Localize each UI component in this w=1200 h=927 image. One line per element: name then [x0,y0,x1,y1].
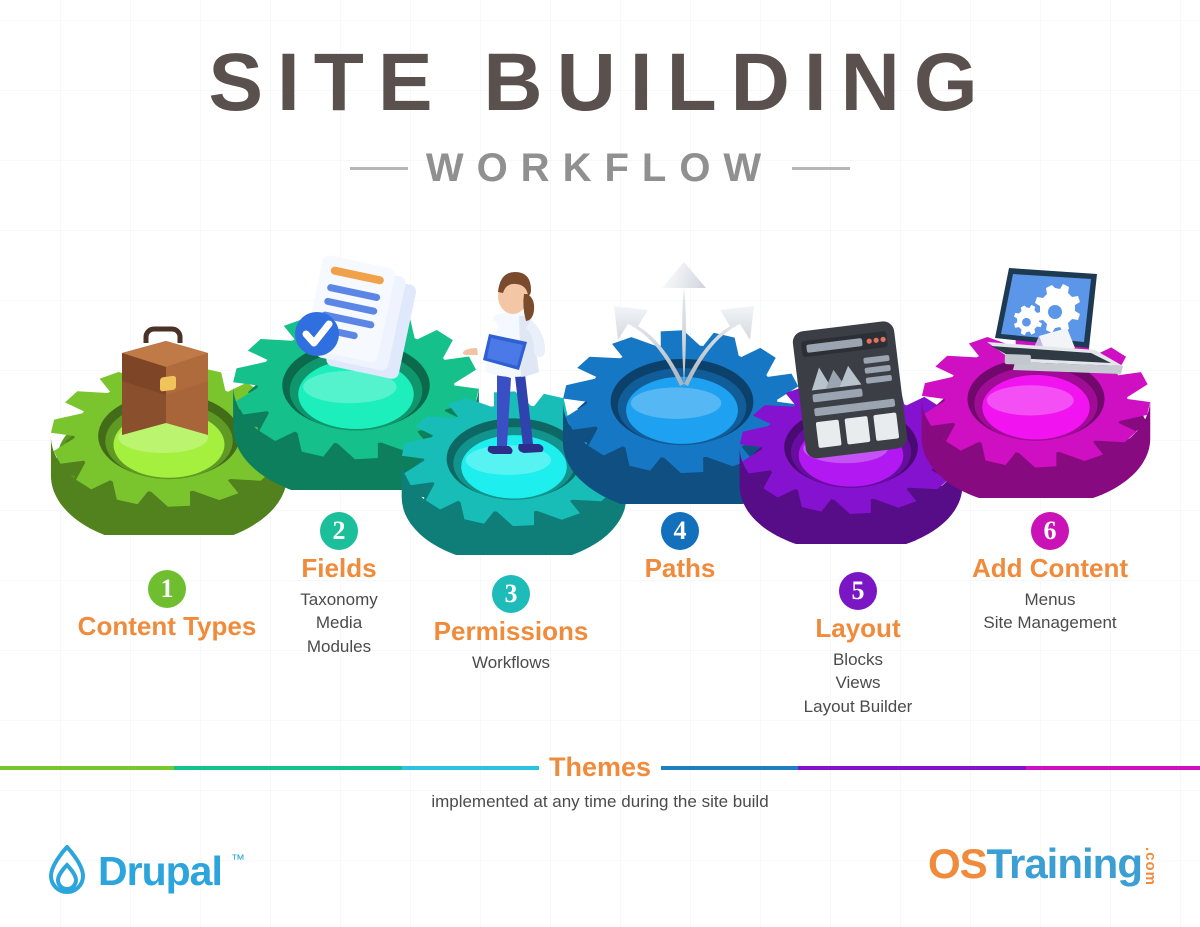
person-clipboard-icon [453,270,573,470]
ostraining-os: OS [928,843,987,885]
step-3-label: 3 Permissions Workflows [390,575,632,674]
drupal-trademark: ™ [231,851,245,867]
step-2-badge: 2 [320,512,358,550]
step-1-badge: 1 [148,570,186,608]
step-5-badge: 5 [839,572,877,610]
step-3-sub: Workflows [390,651,632,674]
themes-note: implemented at any time during the site … [0,792,1200,812]
themes-segment-2 [174,766,402,770]
ostraining-training: Training [987,843,1142,885]
ostraining-logo: OS Training .com [928,843,1158,886]
step-3-badge: 3 [492,575,530,613]
drupal-logo: Drupal ™ [45,845,245,897]
themes-segment-6 [1026,766,1200,770]
gear-step-6 [917,318,1155,498]
step-6-label: 6 Add Content MenusSite Management [925,512,1175,635]
themes-label: Themes [539,752,661,783]
step-5-sub: BlocksViewsLayout Builder [738,648,978,718]
step-6-title: Add Content [925,554,1175,584]
step-6-badge: 6 [1031,512,1069,550]
briefcase-icon [108,323,220,439]
laptop-gears-icon [957,262,1129,392]
themes-segment-1 [0,766,174,770]
infographic-canvas: SITE BUILDING WORKFLOW [0,0,1200,927]
ostraining-dotcom: .com [1143,847,1158,886]
gear-row [0,0,1200,560]
drupal-droplet-icon [45,845,89,897]
drupal-wordmark: Drupal [98,851,222,892]
themes-segment-3 [402,766,539,770]
themes-segment-5 [798,766,1026,770]
step-4-badge: 4 [661,512,699,550]
themes-segment-4 [661,766,798,770]
wireframe-tablet-icon [785,318,913,468]
step-3-title: Permissions [390,617,632,647]
step-6-sub: MenusSite Management [925,588,1175,635]
themes-bar: Themes [0,752,1200,783]
themes-block: Themes implemented at any time during th… [0,752,1200,812]
